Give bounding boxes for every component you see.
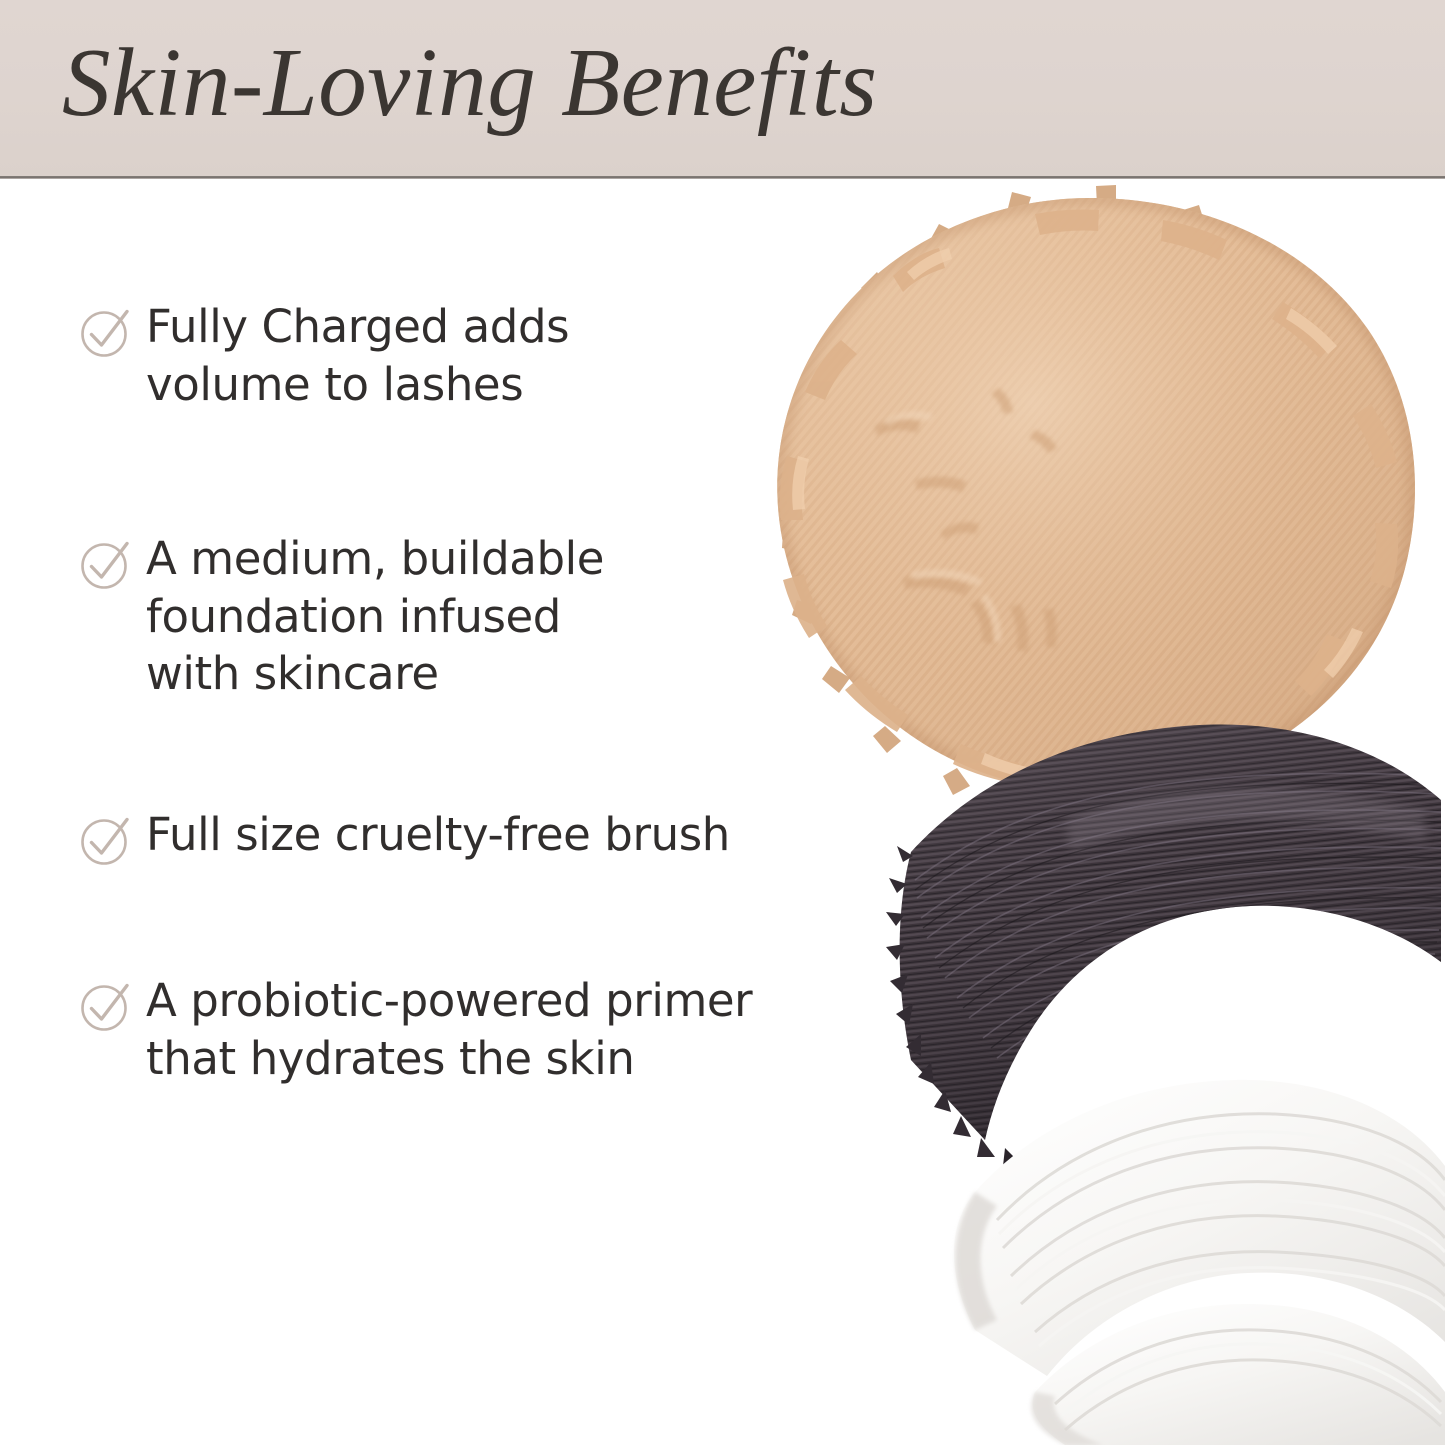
benefits-infographic: Skin-Loving Benefits Fully Charged adds …	[0, 0, 1445, 1445]
check-circle-icon	[78, 978, 134, 1034]
benefit-text: A medium, buildable foundation infused w…	[146, 530, 604, 703]
primer-cream-swatch	[954, 1080, 1445, 1445]
benefit-text: Full size cruelty-free brush	[146, 806, 730, 864]
benefits-list: Fully Charged adds volume to lashes A me…	[0, 176, 910, 1445]
mascara-brushstroke-swatch	[885, 700, 1445, 1170]
benefit-text: A probiotic-powered primer that hydrates…	[146, 972, 752, 1087]
benefit-item: Full size cruelty-free brush	[78, 810, 730, 868]
check-circle-icon	[78, 536, 134, 592]
benefit-item: Fully Charged adds volume to lashes	[78, 302, 569, 413]
page-title: Skin-Loving Benefits	[62, 34, 877, 131]
benefit-item: A probiotic-powered primer that hydrates…	[78, 976, 752, 1087]
benefit-item: A medium, buildable foundation infused w…	[78, 534, 604, 703]
check-circle-icon	[78, 812, 134, 868]
check-circle-icon	[78, 304, 134, 360]
benefit-text: Fully Charged adds volume to lashes	[146, 298, 569, 413]
